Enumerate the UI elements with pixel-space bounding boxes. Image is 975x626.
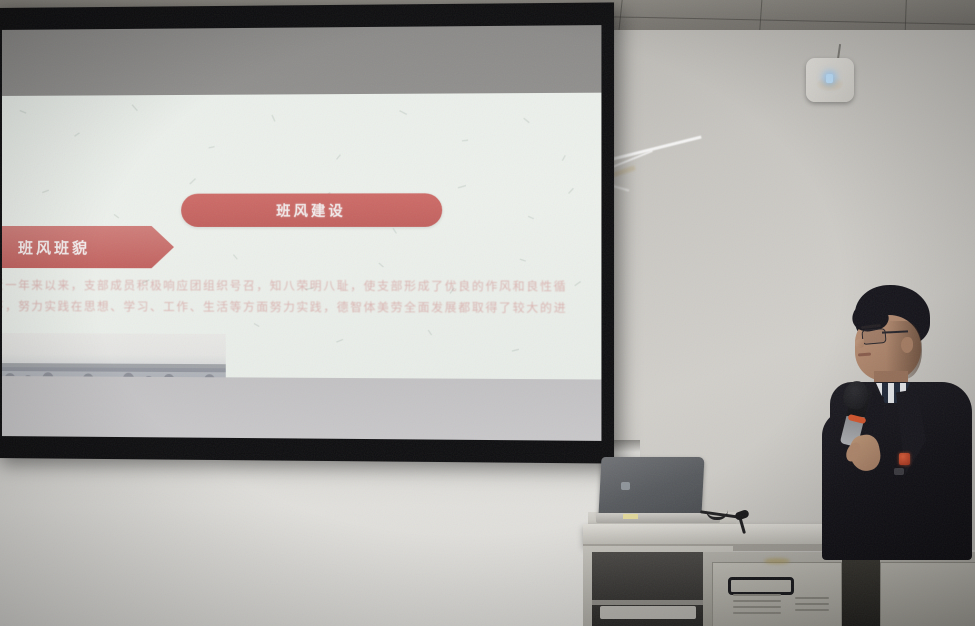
cabinet-vent-slot bbox=[733, 606, 781, 608]
secondary-pin-icon bbox=[894, 468, 904, 475]
lectern-stored-item bbox=[600, 606, 696, 619]
cabinet-vent-slot bbox=[733, 612, 781, 614]
laptop-keyboard-base[interactable] bbox=[596, 513, 720, 523]
presentation-slide: 班风建设 班风班貌 近一年来以来，支部成员积极响应团组织号召，知八荣明八耻，使支… bbox=[2, 93, 601, 380]
slide-group-photo bbox=[2, 333, 226, 379]
cabinet-vent-slot bbox=[795, 597, 829, 599]
student-presenter bbox=[800, 285, 975, 560]
party-badge-icon bbox=[899, 453, 910, 465]
laptop-sticker bbox=[623, 514, 638, 519]
cabinet-vent-slot bbox=[795, 609, 829, 611]
cabinet-open-gap bbox=[842, 560, 880, 626]
classroom-photo-scene: 班风建设 班风班貌 近一年来以来，支部成员积极响应团组织号召，知八荣明八耻，使支… bbox=[0, 0, 975, 626]
slide-section-banner: 班风班貌 bbox=[2, 226, 174, 268]
eyeglasses-icon bbox=[861, 328, 886, 345]
slide-body-line-2: 环，努力实践在思想、学习、工作、生活等方面努力实践，德智体美劳全面发展都取得了较… bbox=[2, 298, 567, 316]
laptop-screen[interactable] bbox=[598, 457, 704, 515]
cabinet-stain bbox=[764, 558, 790, 564]
slide-title-pill: 班风建设 bbox=[181, 193, 442, 227]
access-point-led-icon bbox=[826, 74, 833, 83]
presenter-nose bbox=[855, 339, 864, 348]
cabinet-vent-slot bbox=[795, 603, 829, 605]
lower-wall bbox=[0, 440, 640, 626]
cabinet-handle-icon[interactable] bbox=[728, 577, 794, 595]
projector-letterbox-band bbox=[2, 25, 601, 96]
slide-banner-label: 班风班貌 bbox=[2, 236, 90, 257]
cabinet-vent-slot bbox=[733, 594, 781, 596]
slide-body-line-1: 近一年来以来，支部成员积极响应团组织号召，知八荣明八耻，使支部形成了优良的作风和… bbox=[2, 277, 567, 294]
slide-lower-band bbox=[2, 376, 601, 441]
presenter-ear bbox=[901, 337, 913, 353]
slide-title: 班风建设 bbox=[276, 200, 346, 220]
projector-screen: 班风建设 班风班貌 近一年来以来，支部成员积极响应团组织号召，知八荣明八耻，使支… bbox=[0, 2, 614, 463]
ceiling-grid-line bbox=[600, 16, 975, 25]
cabinet-door-right[interactable] bbox=[880, 562, 975, 626]
cabinet-vent-slot bbox=[733, 600, 781, 602]
laptop-logo-icon bbox=[621, 482, 630, 490]
projection-surface: 班风建设 班风班貌 近一年来以来，支部成员积极响应团组织号召，知八荣明八耻，使支… bbox=[2, 25, 601, 441]
